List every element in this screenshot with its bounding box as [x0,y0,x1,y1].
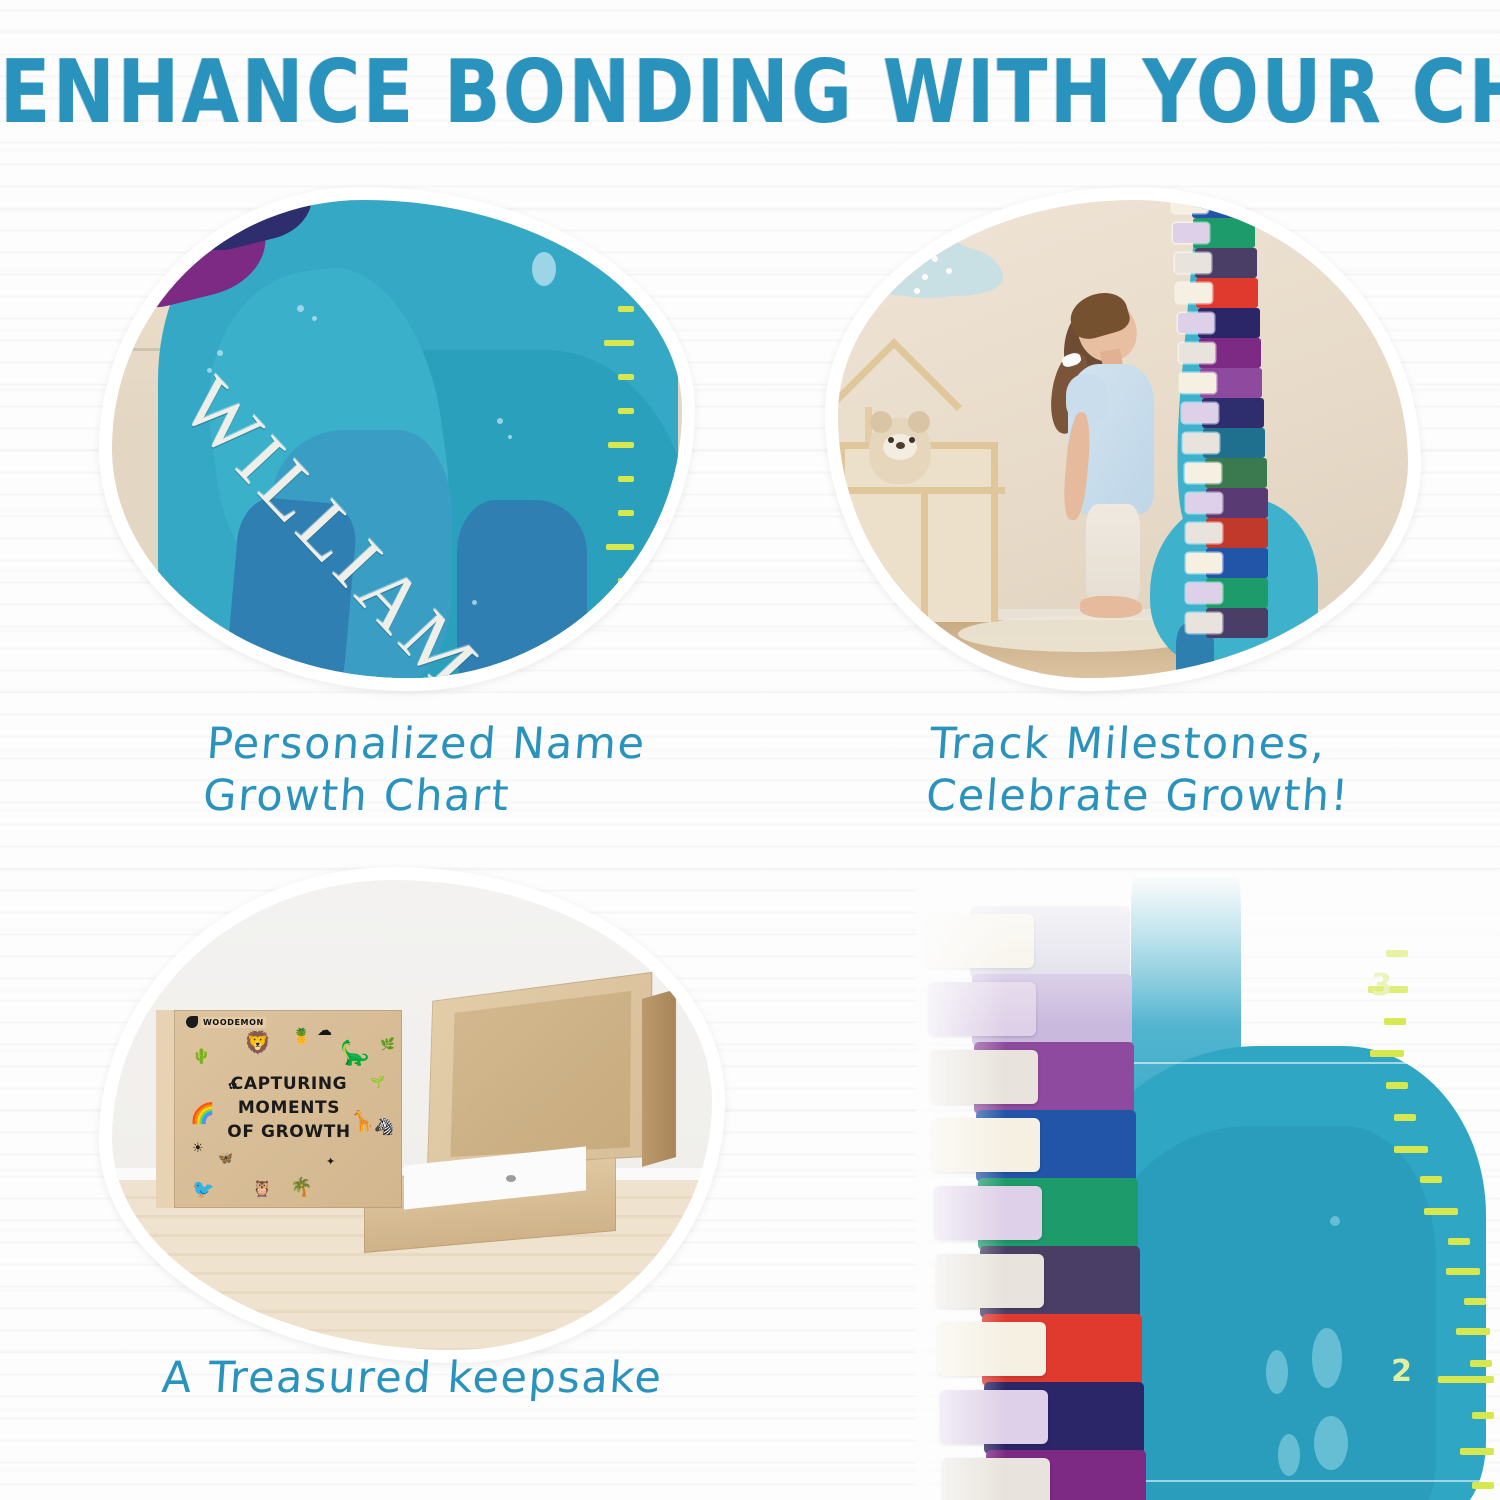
spine-book-card [940,1390,1048,1444]
spine-book-card [1180,373,1216,393]
spine-book-card [1183,433,1219,453]
ruler-number-2: 2 [1391,1354,1412,1389]
spine-book-card [1186,523,1222,543]
page-title: ENHANCE BONDING WITH YOUR CHILD [0,42,1500,143]
bird-icon: 🐦 [192,1180,214,1198]
spine-book-card [1176,283,1212,303]
panel-photo-personalized-name: WILLIAM [112,200,682,678]
leaf-icon: 🌿 [380,1038,395,1050]
spine-book-card [1186,493,1222,513]
spine-book-card [1173,223,1209,243]
panel-photo-packaging: WOODEMON 🌵 🦁 🍍 ☁ 🦕 🌿 🌈 ☀ 🦋 🦒 🦓 🌴 🐦 🦉 ✿ ✦… [112,880,712,1350]
box-headline-text: CAPTURING MOMENTS OF GROWTH [186,1072,392,1144]
spine-plate-stack [1196,200,1268,658]
palm-tree-icon: 🌴 [290,1178,312,1196]
panel-personalized-name: WILLIAM [112,200,682,678]
logo-mark-icon [186,1016,198,1028]
star-icon: ✦ [326,1157,335,1168]
spine-book-card [1178,313,1214,333]
spine-book-card [942,1458,1050,1500]
spine-book-card [1175,253,1211,273]
lion-icon: 🦁 [244,1032,271,1054]
spine-book-card [930,1050,1038,1104]
box-insert-hole [506,1175,516,1182]
spine-book-card [1179,343,1215,363]
spine-book-card [938,1322,1046,1376]
spine-book-card [932,1118,1040,1172]
spine-book-card [1186,613,1222,633]
caption-track-milestones: Track Milestones, Celebrate Growth! [924,718,1355,823]
dinosaur-icon: 🦕 [340,1042,370,1066]
cloud-icon: ☁ [317,1023,332,1038]
spine-book-card [936,1254,1044,1308]
owl-icon: 🦉 [252,1182,272,1198]
caption-treasured-keepsake: A Treasured keepsake [160,1352,664,1404]
spine-book-card [1185,463,1221,483]
ruler-ticks-detail [1380,876,1500,1500]
box-lid-side-flap [642,989,676,1167]
caption-personalized-name: Personalized Name Growth Chart [201,718,647,823]
spine-book-card [934,1186,1042,1240]
dress-sleeve [1066,374,1108,422]
panel-photo-track-milestones [838,200,1408,678]
ruler-ticks [556,200,634,678]
brand-name: WOODEMON [201,1017,266,1028]
spine-plate-stack-detail [926,906,1126,1500]
spine-book-card [1172,200,1208,213]
spine-book-card [928,982,1036,1036]
panel-treasured-keepsake: WOODEMON 🌵 🦁 🍍 ☁ 🦕 🌿 🌈 ☀ 🦋 🦒 🦓 🌴 🐦 🦉 ✿ ✦… [112,880,712,1350]
spine-book-card [926,914,1034,968]
shelf-vertical-divider [921,494,928,622]
spine-book-card [1182,403,1218,423]
pineapple-icon: 🍍 [292,1029,311,1044]
gift-box-side [156,1010,176,1208]
infographic-page: ENHANCE BONDING WITH YOUR CHILD [0,0,1500,1500]
shelf-divider [845,487,1005,494]
spine-book-card [1186,553,1222,573]
brand-logo: WOODEMON [186,1016,266,1028]
ruler-number-3: 3 [1371,968,1392,1003]
cactus-icon: 🌵 [192,1049,211,1064]
panel-ruler-detail: 3 2 [916,876,1500,1500]
butterfly-icon: 🦋 [218,1152,233,1164]
panel-track-milestones [838,200,1408,678]
open-box-lid [427,972,652,1168]
spine-book-card [1186,583,1222,603]
box-lid-inner [450,991,631,1157]
